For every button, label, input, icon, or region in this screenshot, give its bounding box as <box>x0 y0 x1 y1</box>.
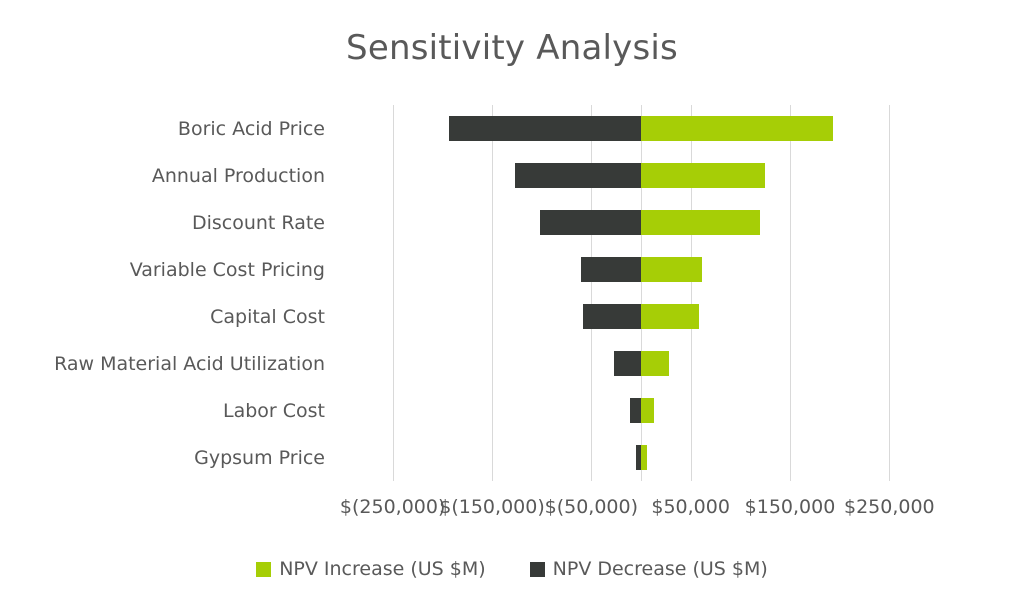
bar-npv-decrease <box>581 257 641 282</box>
sensitivity-analysis-chart: Sensitivity Analysis Boric Acid PriceAnn… <box>0 0 1024 614</box>
x-axis-tick-labels: $(250,000)$(150,000)$(50,000)$50,000$150… <box>0 496 1024 530</box>
category-label: Discount Rate <box>0 211 325 235</box>
chart-legend: NPV Increase (US $M)NPV Decrease (US $M) <box>0 558 1024 580</box>
bar-npv-increase <box>641 116 833 141</box>
bar-npv-increase <box>641 210 760 235</box>
bar-npv-increase <box>641 445 647 470</box>
bar-npv-increase <box>641 304 699 329</box>
x-tick-label: $50,000 <box>651 496 730 518</box>
legend-label: NPV Decrease (US $M) <box>553 558 768 580</box>
category-label: Labor Cost <box>0 399 325 423</box>
chart-title: Sensitivity Analysis <box>0 28 1024 68</box>
bar-npv-increase <box>641 351 669 376</box>
bar-npv-decrease <box>614 351 641 376</box>
legend-swatch-icon <box>530 562 545 577</box>
category-label: Variable Cost Pricing <box>0 258 325 282</box>
bar-row <box>343 152 939 199</box>
category-label: Capital Cost <box>0 305 325 329</box>
category-label: Raw Material Acid Utilization <box>0 352 325 376</box>
bar-row <box>343 434 939 481</box>
x-tick-label: $(250,000) <box>340 496 445 518</box>
legend-item[interactable]: NPV Increase (US $M) <box>256 558 485 580</box>
legend-swatch-icon <box>256 562 271 577</box>
bar-row <box>343 246 939 293</box>
bar-npv-decrease <box>540 210 641 235</box>
bar-row <box>343 340 939 387</box>
x-tick-label: $(50,000) <box>545 496 638 518</box>
bar-npv-decrease <box>449 116 641 141</box>
plot-area <box>343 105 939 481</box>
legend-item[interactable]: NPV Decrease (US $M) <box>530 558 768 580</box>
bar-npv-increase <box>641 398 654 423</box>
bar-npv-decrease <box>583 304 641 329</box>
x-tick-label: $150,000 <box>745 496 836 518</box>
category-label: Gypsum Price <box>0 446 325 470</box>
x-tick-label: $250,000 <box>844 496 935 518</box>
bar-row <box>343 387 939 434</box>
bar-npv-decrease <box>630 398 641 423</box>
bar-row <box>343 199 939 246</box>
legend-label: NPV Increase (US $M) <box>279 558 485 580</box>
bar-row <box>343 105 939 152</box>
bar-npv-increase <box>641 163 765 188</box>
y-axis-category-labels: Boric Acid PriceAnnual ProductionDiscoun… <box>0 105 325 481</box>
category-label: Annual Production <box>0 164 325 188</box>
bar-rows <box>343 105 939 481</box>
bar-npv-increase <box>641 257 702 282</box>
bar-npv-decrease <box>515 163 641 188</box>
bar-row <box>343 293 939 340</box>
x-tick-label: $(150,000) <box>439 496 544 518</box>
category-label: Boric Acid Price <box>0 117 325 141</box>
